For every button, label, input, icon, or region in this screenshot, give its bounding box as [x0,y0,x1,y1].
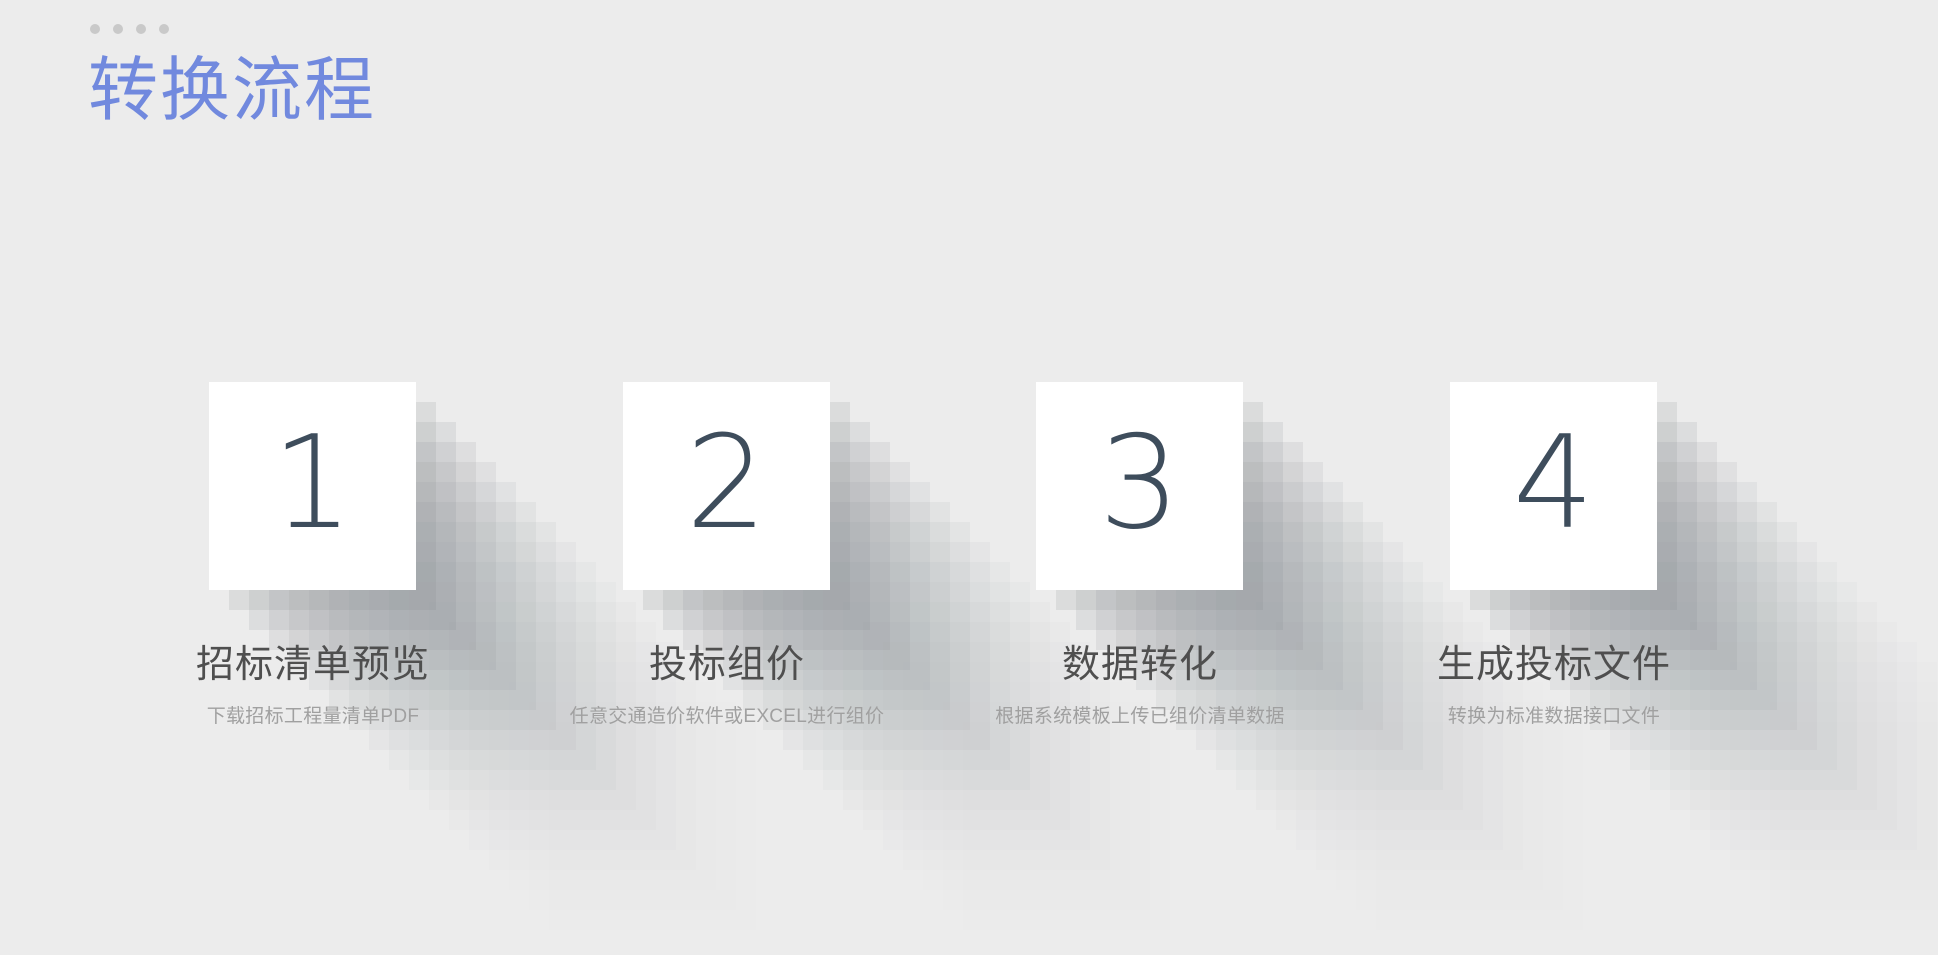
process-steps: 1 2 3 4 [0,0,1938,955]
step-title: 投标组价 [517,640,937,690]
process-step-2[interactable]: 2 [623,382,830,590]
slide-canvas: 转换流程 1 2 3 [0,0,1938,955]
step-caption-1: 招标清单预览 下载招标工程量清单PDF [103,640,523,730]
step-number: 3 [1099,420,1180,548]
step-number-tile[interactable]: 2 [623,382,830,590]
step-number-tile[interactable]: 4 [1450,382,1657,590]
step-number: 1 [272,420,353,548]
step-number: 2 [686,420,767,548]
step-number-tile[interactable]: 3 [1036,382,1243,590]
step-caption-4: 生成投标文件 转换为标准数据接口文件 [1344,640,1764,730]
step-title: 数据转化 [930,640,1350,690]
step-title: 生成投标文件 [1344,640,1764,690]
step-number-tile[interactable]: 1 [209,382,416,590]
step-subtitle: 转换为标准数据接口文件 [1344,704,1764,730]
process-step-1[interactable]: 1 [209,382,416,590]
step-subtitle: 任意交通造价软件或EXCEL进行组价 [517,704,937,730]
process-step-4[interactable]: 4 [1450,382,1657,590]
step-subtitle: 下载招标工程量清单PDF [103,704,523,730]
step-caption-3: 数据转化 根据系统模板上传已组价清单数据 [930,640,1350,730]
step-title: 招标清单预览 [103,640,523,690]
step-caption-2: 投标组价 任意交通造价软件或EXCEL进行组价 [517,640,937,730]
step-number: 4 [1513,420,1594,548]
step-subtitle: 根据系统模板上传已组价清单数据 [930,704,1350,730]
process-step-3[interactable]: 3 [1036,382,1243,590]
